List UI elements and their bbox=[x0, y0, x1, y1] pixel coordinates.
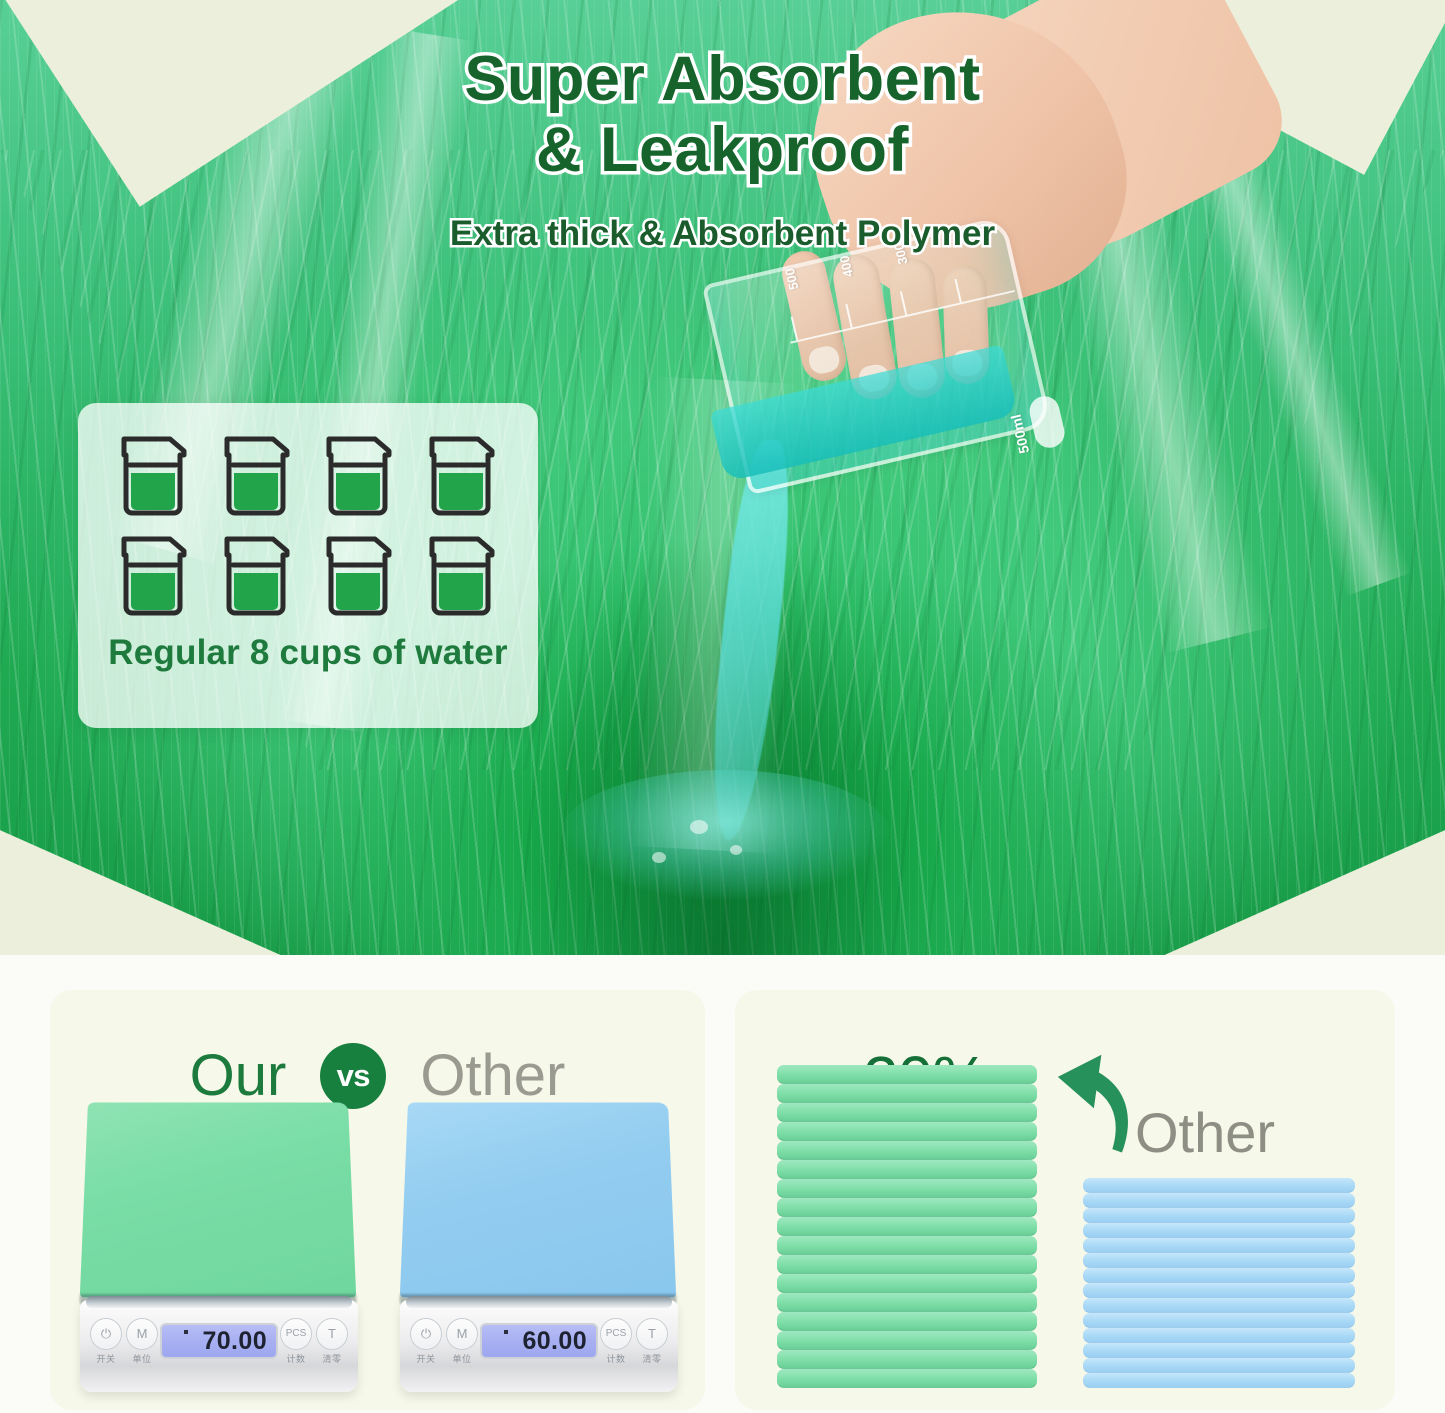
beaker-cup-icon bbox=[323, 431, 395, 519]
stack-layer bbox=[1083, 1373, 1355, 1388]
stack-layer bbox=[777, 1141, 1037, 1160]
beaker-with-hand: 500 400 300 100 500ml bbox=[700, 236, 1080, 496]
scale-platform-edge bbox=[406, 1296, 672, 1308]
unit-button-label: 单位 bbox=[444, 1352, 480, 1365]
stack-layer bbox=[1083, 1343, 1355, 1358]
stack-layer bbox=[777, 1236, 1037, 1255]
stack-layer bbox=[777, 1179, 1037, 1198]
tare-button-label: 清零 bbox=[314, 1352, 350, 1365]
power-button[interactable]: ⏻ 开关 bbox=[88, 1318, 124, 1365]
mode-icon: M bbox=[126, 1318, 158, 1350]
stack-layer bbox=[1083, 1238, 1355, 1253]
stack-layer bbox=[777, 1065, 1037, 1084]
beaker-sticker bbox=[1027, 393, 1068, 450]
stack-layer bbox=[1083, 1223, 1355, 1238]
stack-layer bbox=[777, 1274, 1037, 1293]
other-pad-sample bbox=[400, 1103, 676, 1298]
stack-layer bbox=[777, 1255, 1037, 1274]
scale-body: ⏻ 开关 M 单位 60.00 PCS 计数 bbox=[400, 1300, 678, 1392]
beaker-cup-icon bbox=[323, 531, 395, 619]
our-pad-sample bbox=[80, 1103, 356, 1298]
stack-layer bbox=[1083, 1328, 1355, 1343]
mode-icon: M bbox=[446, 1318, 478, 1350]
water-bubble bbox=[690, 820, 708, 834]
count-button-label: 计数 bbox=[278, 1352, 314, 1365]
pcs-icon: PCS bbox=[600, 1318, 632, 1350]
stack-layer bbox=[777, 1160, 1037, 1179]
beaker-cup-icon bbox=[221, 531, 293, 619]
stack-layer bbox=[1083, 1178, 1355, 1193]
beaker-cup-icon bbox=[426, 431, 498, 519]
thickness-comparison-panel: 20% Other bbox=[735, 990, 1395, 1410]
power-button-label: 开关 bbox=[408, 1352, 444, 1365]
other-thickness-label: Other bbox=[1135, 1100, 1275, 1165]
cups-callout-box: Regular 8 cups of water bbox=[78, 403, 538, 728]
stack-layer bbox=[1083, 1283, 1355, 1298]
stack-layer bbox=[1083, 1298, 1355, 1313]
our-stack bbox=[777, 1065, 1037, 1388]
stack-layer bbox=[1083, 1253, 1355, 1268]
stack-layer bbox=[777, 1217, 1037, 1236]
unit-button[interactable]: M 单位 bbox=[124, 1318, 160, 1365]
unit-button-label: 单位 bbox=[124, 1352, 160, 1365]
hero-title-line-1: Super Absorbent bbox=[0, 44, 1445, 115]
scale-platform-edge bbox=[86, 1296, 352, 1308]
count-button-label: 计数 bbox=[598, 1352, 634, 1365]
our-weight-reading: 70.00 bbox=[202, 1327, 267, 1356]
unit-button[interactable]: M 单位 bbox=[444, 1318, 480, 1365]
display-indicator-dot bbox=[504, 1330, 508, 1334]
beaker-cup-icon bbox=[118, 531, 190, 619]
other-scale: ⏻ 开关 M 单位 60.00 PCS 计数 bbox=[400, 1092, 678, 1392]
cups-callout-label: Regular 8 cups of water bbox=[78, 633, 538, 673]
stack-layer bbox=[777, 1084, 1037, 1103]
hero-section: 500 400 300 100 500ml Super Absorbent & … bbox=[0, 0, 1445, 955]
scale-display: 70.00 bbox=[160, 1323, 278, 1359]
scale-body: ⏻ 开关 M 单位 70.00 PCS 计数 bbox=[80, 1300, 358, 1392]
hero-title-line-2: & Leakproof bbox=[0, 115, 1445, 186]
display-indicator-dot bbox=[184, 1330, 188, 1334]
beaker-cup-icon bbox=[118, 431, 190, 519]
tare-button-label: 清零 bbox=[634, 1352, 670, 1365]
product-marketing-image: 500 400 300 100 500ml Super Absorbent & … bbox=[0, 0, 1445, 1413]
stack-layer bbox=[777, 1198, 1037, 1217]
stack-layer bbox=[777, 1369, 1037, 1388]
stack-layer bbox=[1083, 1268, 1355, 1283]
stack-layer bbox=[777, 1312, 1037, 1331]
hero-title: Super Absorbent & Leakproof bbox=[0, 44, 1445, 185]
count-button[interactable]: PCS 计数 bbox=[598, 1318, 634, 1365]
power-icon: ⏻ bbox=[90, 1318, 122, 1350]
count-button[interactable]: PCS 计数 bbox=[278, 1318, 314, 1365]
water-bubble bbox=[652, 852, 666, 863]
bottom-section: Our vs Other ⏻ 开关 M 单位 bbox=[0, 955, 1445, 1413]
other-weight-reading: 60.00 bbox=[522, 1327, 587, 1356]
stack-layer bbox=[777, 1331, 1037, 1350]
scale-control-panel: ⏻ 开关 M 单位 60.00 PCS 计数 bbox=[400, 1314, 678, 1368]
power-button-label: 开关 bbox=[88, 1352, 124, 1365]
weight-comparison-panel: Our vs Other ⏻ 开关 M 单位 bbox=[50, 990, 705, 1410]
hero-subtitle: Extra thick & Absorbent Polymer bbox=[0, 214, 1445, 254]
tare-icon: T bbox=[316, 1318, 348, 1350]
cups-grid bbox=[78, 431, 538, 619]
beaker-cup-icon bbox=[426, 531, 498, 619]
water-bubble bbox=[730, 845, 742, 855]
water-splash bbox=[560, 770, 890, 900]
power-button[interactable]: ⏻ 开关 bbox=[408, 1318, 444, 1365]
stack-layer bbox=[777, 1103, 1037, 1122]
stack-layer bbox=[777, 1122, 1037, 1141]
our-scale: ⏻ 开关 M 单位 70.00 PCS 计数 bbox=[80, 1092, 358, 1392]
pcs-icon: PCS bbox=[280, 1318, 312, 1350]
tare-button[interactable]: T 清零 bbox=[634, 1318, 670, 1365]
stack-layer bbox=[777, 1350, 1037, 1369]
power-icon: ⏻ bbox=[410, 1318, 442, 1350]
beaker-cup-icon bbox=[221, 431, 293, 519]
stack-layer bbox=[1083, 1313, 1355, 1328]
scale-display: 60.00 bbox=[480, 1323, 598, 1359]
stack-layer bbox=[777, 1293, 1037, 1312]
scale-control-panel: ⏻ 开关 M 单位 70.00 PCS 计数 bbox=[80, 1314, 358, 1368]
tare-button[interactable]: T 清零 bbox=[314, 1318, 350, 1365]
stack-layer bbox=[1083, 1193, 1355, 1208]
stack-layer bbox=[1083, 1358, 1355, 1373]
other-stack bbox=[1083, 1178, 1355, 1388]
tare-icon: T bbox=[636, 1318, 668, 1350]
stack-layer bbox=[1083, 1208, 1355, 1223]
